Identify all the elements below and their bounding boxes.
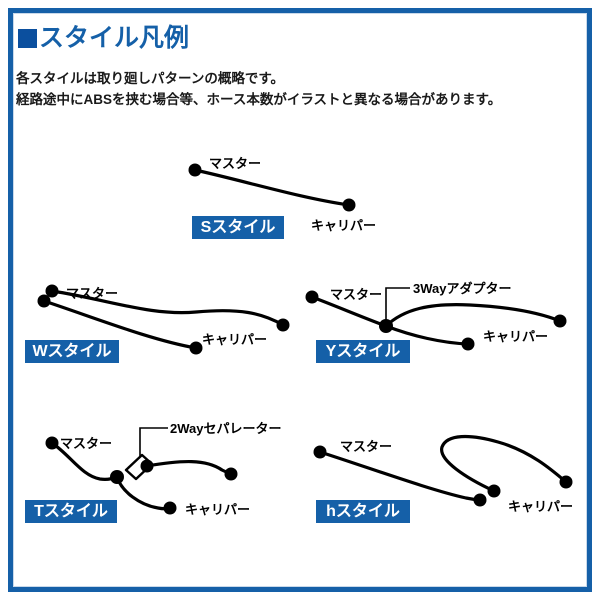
caliper-node-lower bbox=[462, 338, 475, 351]
w-style-master-label: マスター bbox=[66, 287, 118, 300]
y-style-three-way-adapter-label: 3Wayアダプター bbox=[413, 282, 511, 295]
w-style-caliper-label: キャリパー bbox=[202, 333, 267, 346]
caliper-node-lower bbox=[190, 342, 203, 355]
badge-s-style[interactable]: Sスタイル bbox=[192, 216, 284, 239]
master-node-lower bbox=[38, 295, 51, 308]
hose-master-to-caliper bbox=[195, 170, 349, 205]
s-style-master-label: マスター bbox=[209, 157, 261, 170]
hose-master-to-caliper-lower bbox=[320, 452, 480, 500]
h-style-caliper-label: キャリパー bbox=[508, 500, 573, 513]
y-style-master-label: マスター bbox=[330, 288, 382, 301]
three-way-adapter-node bbox=[379, 319, 393, 333]
junction-node bbox=[110, 470, 124, 484]
hose-junction-to-caliper-bottom bbox=[117, 477, 170, 509]
s-style-caliper-label: キャリパー bbox=[311, 219, 376, 232]
badge-h-style[interactable]: hスタイル bbox=[316, 500, 410, 523]
caliper-node-upper bbox=[554, 315, 567, 328]
caliper-node-right bbox=[225, 468, 238, 481]
h-style-master-label: マスター bbox=[340, 440, 392, 453]
caliper-node-bottom bbox=[164, 502, 177, 515]
badge-y-style[interactable]: Yスタイル bbox=[316, 340, 410, 363]
y-style-caliper-label: キャリパー bbox=[483, 330, 548, 343]
t-style-caliper-label: キャリパー bbox=[185, 503, 250, 516]
hose-separator-to-caliper-right bbox=[147, 462, 231, 474]
separator-node bbox=[141, 460, 154, 473]
master-node bbox=[46, 437, 59, 450]
caliper-node-right bbox=[560, 476, 573, 489]
caliper-node-lower bbox=[474, 494, 487, 507]
caliper-node-upper bbox=[488, 485, 501, 498]
master-node bbox=[189, 164, 202, 177]
hose-adapter-to-caliper-upper bbox=[386, 305, 560, 326]
t-style-master-label: マスター bbox=[60, 437, 112, 450]
master-node bbox=[306, 291, 319, 304]
badge-w-style[interactable]: Wスタイル bbox=[25, 340, 119, 363]
caliper-node bbox=[343, 199, 356, 212]
t-style-two-way-separator-label: 2Wayセパレーター bbox=[170, 422, 281, 435]
master-node bbox=[314, 446, 327, 459]
caliper-node-upper bbox=[277, 319, 290, 332]
content-area: スタイル凡例 各スタイルは取り廻しパターンの概略です。 経路途中にABSを挟む場… bbox=[0, 0, 600, 600]
legend-page: スタイル凡例 各スタイルは取り廻しパターンの概略です。 経路途中にABSを挟む場… bbox=[0, 0, 600, 600]
badge-t-style[interactable]: Tスタイル bbox=[25, 500, 117, 523]
hose-loop-to-caliper-right bbox=[442, 437, 566, 491]
